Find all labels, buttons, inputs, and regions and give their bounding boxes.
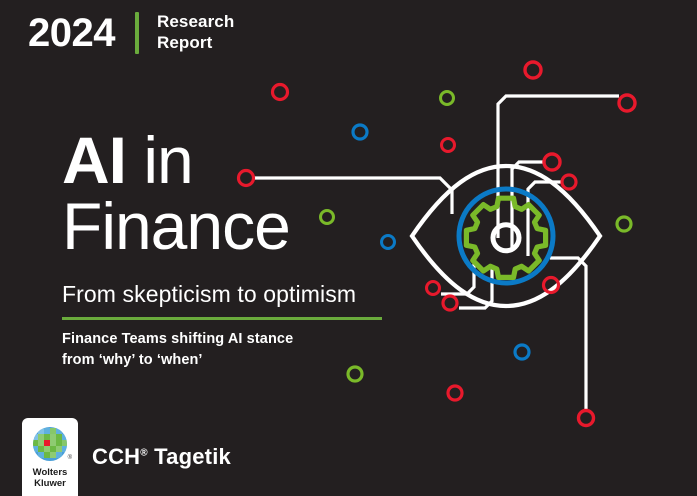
dot-red-4: [442, 139, 455, 152]
product-registered-mark: ®: [140, 448, 148, 459]
blurb-line2: from ‘why’ to ‘when’: [62, 350, 293, 371]
cover-header: 2024 Research Report: [28, 12, 234, 54]
dot-red-5: [544, 154, 560, 170]
dot-green-2: [321, 211, 334, 224]
dot-red-6: [562, 175, 576, 189]
product-suffix: Tagetik: [154, 444, 231, 469]
gear-icon: [466, 198, 545, 277]
globe-mark: [32, 426, 68, 462]
wolters-kluwer-wordmark: Wolters Kluwer: [33, 467, 68, 489]
subtitle-divider: [62, 317, 382, 320]
registered-mark: ®: [68, 455, 72, 461]
dot-green-1: [441, 92, 454, 105]
dot-green-4: [348, 367, 362, 381]
page-blurb: Finance Teams shifting AI stance from ‘w…: [62, 329, 293, 370]
wk-name-line2: Kluwer: [33, 478, 68, 489]
dot-red-11: [448, 386, 462, 400]
accent-dots: [239, 62, 636, 426]
title-emphasis: AI: [62, 123, 126, 197]
dot-red-10: [443, 296, 457, 310]
circuit-traces: [252, 96, 619, 410]
dot-red-1: [273, 85, 288, 100]
dot-blue-2: [382, 236, 395, 249]
page-title: AI in Finance: [62, 128, 290, 258]
dot-green-3: [617, 217, 631, 231]
blurb-line1: Finance Teams shifting AI stance: [62, 329, 293, 350]
dot-red-12: [579, 411, 594, 426]
wolters-kluwer-globe-icon: ®: [32, 426, 68, 462]
eye-iris: [459, 189, 553, 283]
product-name: CCH: [92, 444, 140, 469]
dot-blue-3: [515, 345, 529, 359]
header-divider: [135, 12, 139, 54]
title-line1-rest: in: [126, 123, 193, 197]
report-type-line1: Research: [157, 12, 234, 33]
product-wordmark: CCH® Tagetik: [92, 444, 231, 470]
wk-name-line1: Wolters: [33, 467, 68, 478]
dot-red-8: [427, 282, 440, 295]
report-cover: 2024 Research Report AI in Finance From …: [0, 0, 697, 496]
dot-blue-1: [353, 125, 367, 139]
dot-red-2: [525, 62, 541, 78]
dot-red-3: [619, 95, 635, 111]
page-subtitle: From skepticism to optimism: [62, 281, 356, 308]
report-type: Research Report: [157, 12, 234, 53]
report-type-line2: Report: [157, 33, 234, 54]
wolters-kluwer-logo: ® Wolters Kluwer: [22, 418, 78, 496]
title-line2: Finance: [62, 194, 290, 258]
report-year: 2024: [28, 13, 115, 53]
